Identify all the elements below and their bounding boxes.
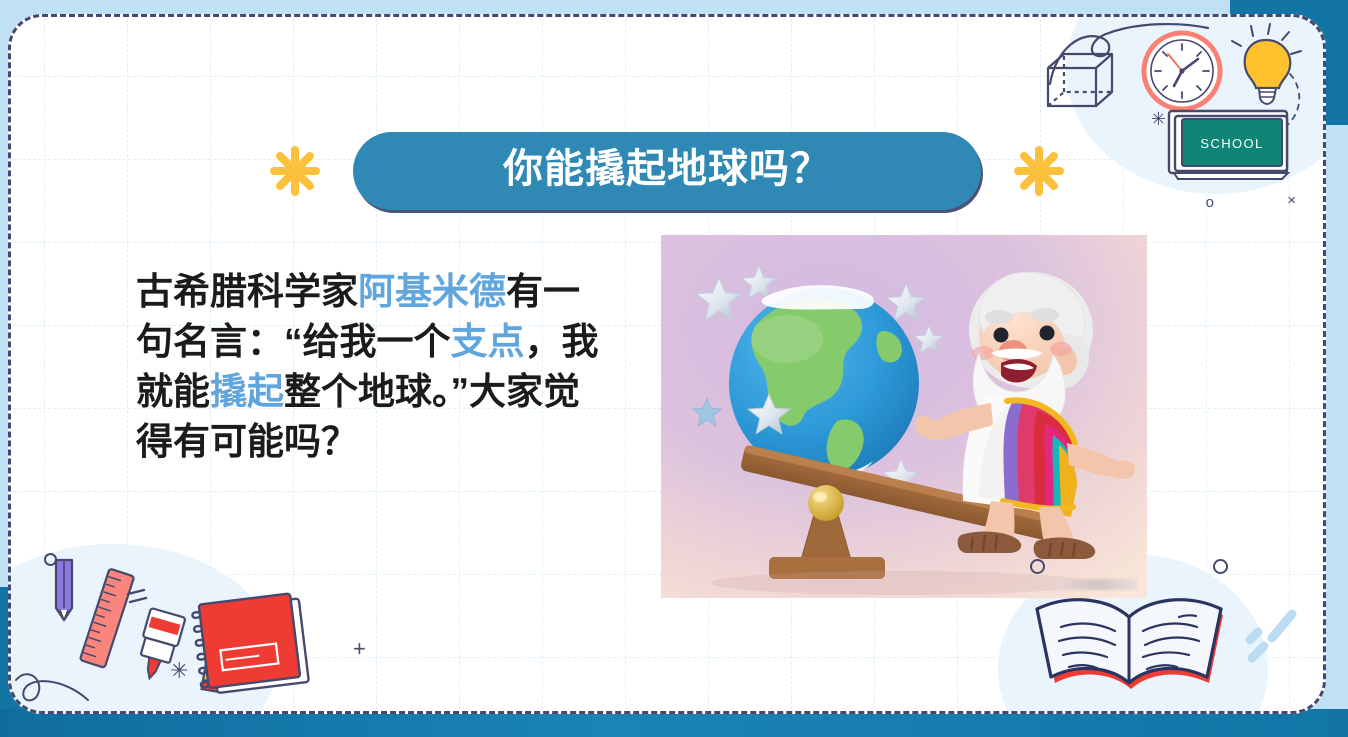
- ruler-icon: [80, 569, 134, 668]
- slide-title: 你能撬起地球吗？: [353, 132, 981, 210]
- illustration-image: [661, 235, 1147, 598]
- blackboard-label: SCHOOL: [1200, 136, 1263, 151]
- asterisk-mark-tr: ✳: [1151, 109, 1166, 130]
- circle-mark-bl: [44, 553, 57, 566]
- blackboard-icon: SCHOOL: [1164, 106, 1304, 186]
- text-seg-0: 古希腊科学家: [136, 271, 358, 312]
- plus-mark-bl: +: [353, 636, 366, 662]
- text-seg-5-highlight: 撬起: [210, 371, 284, 412]
- lightbulb-icon: [1232, 24, 1301, 104]
- open-book-icon: [1033, 587, 1233, 702]
- circle-mark-br-2: [1213, 559, 1228, 574]
- text-seg-1-highlight: 阿基米德: [358, 271, 506, 312]
- slide: SCHOOL o × ✳: [0, 0, 1348, 737]
- circle-mark-tr: o: [1206, 194, 1214, 211]
- text-seg-3-highlight: 支点: [451, 321, 525, 362]
- x-mark-tr: ×: [1287, 192, 1296, 209]
- circle-mark-br-1: [1030, 559, 1045, 574]
- equals-mark: [128, 590, 146, 602]
- speed-lines-icon: [1236, 598, 1306, 668]
- clock-icon: [1144, 33, 1220, 109]
- slide-card: SCHOOL o × ✳: [8, 14, 1326, 714]
- pen-icon: [56, 560, 72, 620]
- body-paragraph: 古希腊科学家阿基米德有一句名言：“给我一个支点，我就能撬起整个地球。”大家觉得有…: [136, 267, 606, 467]
- notebook-icon: [186, 590, 336, 700]
- starburst-icon-left: [267, 143, 323, 199]
